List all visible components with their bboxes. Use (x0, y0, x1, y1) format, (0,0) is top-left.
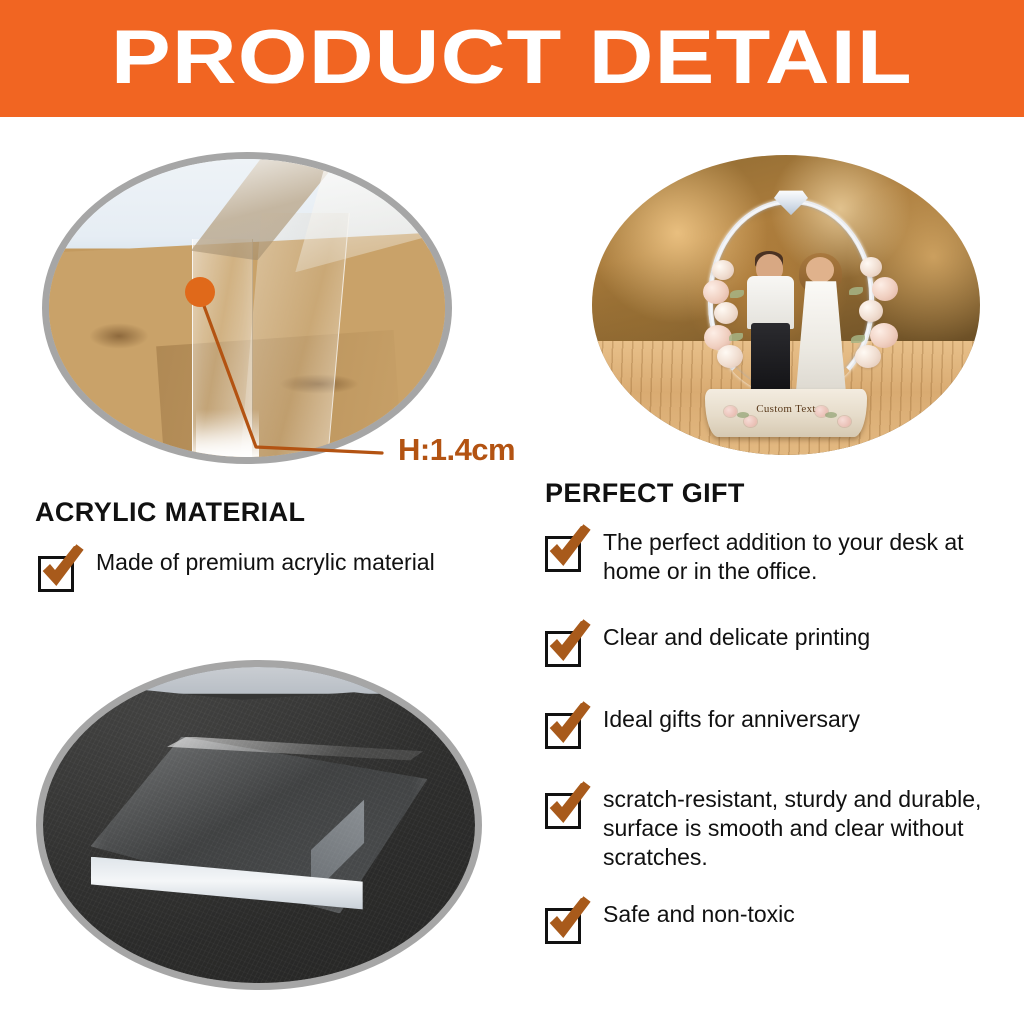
checkbox-checked-icon (545, 530, 587, 572)
rose-cluster-right (833, 257, 903, 383)
wood-knot (89, 323, 149, 349)
leaf (730, 290, 744, 298)
rose (870, 323, 898, 348)
checkbox-checked-icon (545, 707, 587, 749)
feature-text: Made of premium acrylic material (96, 548, 435, 577)
checkmark-icon (40, 546, 86, 592)
page-title: PRODUCT DETAIL (111, 20, 913, 96)
feature-row: Safe and non-toxic (545, 900, 795, 944)
leaf (729, 333, 743, 341)
dimension-label: H:1.4cm (398, 432, 515, 468)
checkmark-icon (547, 621, 593, 667)
rose (703, 280, 729, 304)
section-heading-perfect-gift: PERFECT GIFT (545, 478, 745, 509)
wedding-figurine-photo: Custom Text (592, 155, 980, 455)
feature-row: scratch-resistant, sturdy and durable, s… (545, 785, 1003, 871)
checkmark-icon (547, 783, 593, 829)
checkmark-icon (547, 703, 593, 749)
rose (859, 300, 883, 322)
section-heading-acrylic-material: ACRYLIC MATERIAL (35, 497, 305, 528)
leaf (851, 335, 865, 343)
feature-row: Made of premium acrylic material (38, 548, 435, 592)
feature-row: Clear and delicate printing (545, 623, 870, 667)
figurine-custom-text: Custom Text (705, 403, 868, 415)
rose (714, 302, 738, 324)
checkmark-icon (547, 526, 593, 572)
base-rose (838, 416, 851, 427)
rose (717, 345, 743, 368)
rose (855, 345, 881, 368)
rose (860, 257, 882, 277)
feature-text: Clear and delicate printing (603, 623, 870, 652)
photo-content (43, 667, 475, 983)
photo-content: Custom Text (592, 155, 980, 455)
checkbox-checked-icon (38, 550, 80, 592)
acrylic-edge-on-wood-photo (42, 152, 452, 464)
rose (712, 260, 734, 280)
feature-text: The perfect addition to your desk at hom… (603, 528, 1003, 586)
checkbox-checked-icon (545, 625, 587, 667)
leaf (849, 287, 863, 295)
checkmark-icon (547, 898, 593, 944)
feature-text: Safe and non-toxic (603, 900, 795, 929)
checkbox-checked-icon (545, 902, 587, 944)
bride-head (806, 257, 834, 283)
acrylic-block-on-slate-photo (36, 660, 482, 990)
diamond-gem (774, 189, 808, 215)
feature-row: Ideal gifts for anniversary (545, 705, 860, 749)
feature-row: The perfect addition to your desk at hom… (545, 528, 1003, 586)
feature-text: Ideal gifts for anniversary (603, 705, 860, 734)
header-banner: PRODUCT DETAIL (0, 0, 1024, 117)
feature-text: scratch-resistant, sturdy and durable, s… (603, 785, 1003, 871)
photo-content (49, 159, 445, 457)
rose-cluster-left (701, 257, 763, 383)
rose (872, 277, 898, 301)
acrylic-slab-bottom-glow (196, 409, 259, 457)
checkbox-checked-icon (545, 787, 587, 829)
figurine-base: Custom Text (705, 389, 868, 437)
